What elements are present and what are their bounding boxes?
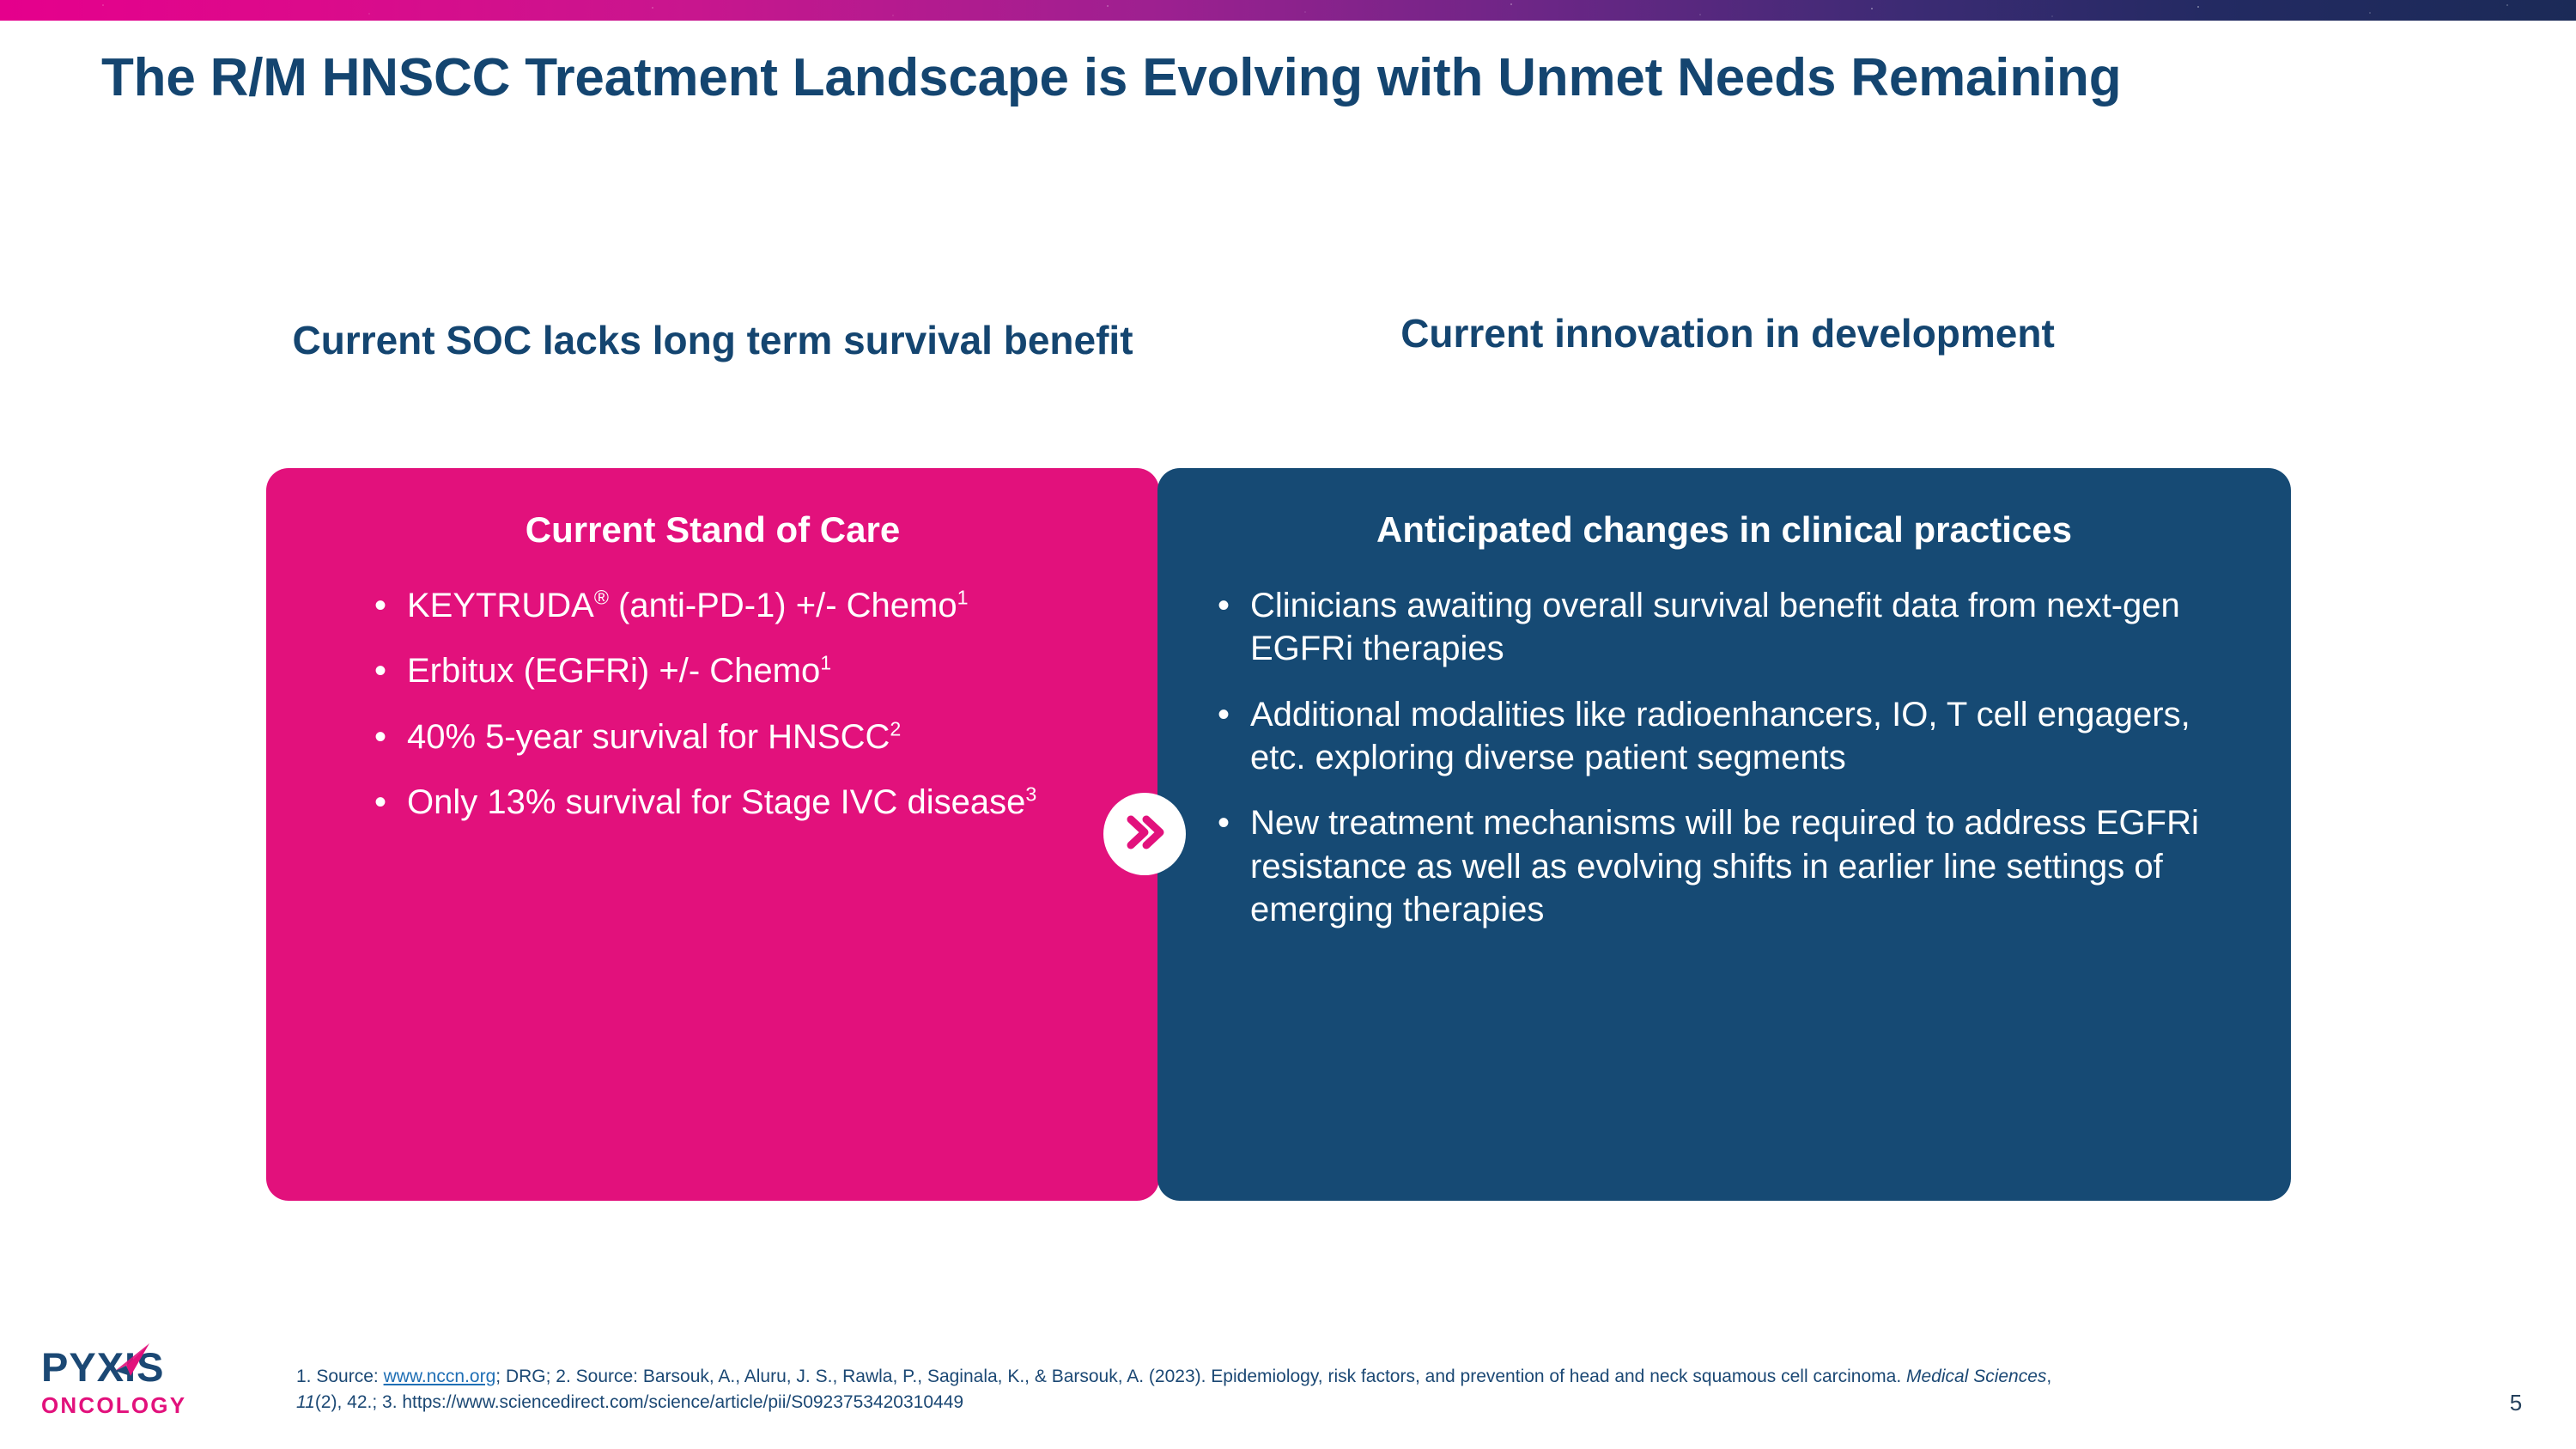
logo-primary-text: PYXIS <box>41 1347 239 1387</box>
top-gradient-band <box>0 0 2576 21</box>
card-anticipated-changes: Anticipated changes in clinical practice… <box>1157 468 2291 1201</box>
registered-mark: ® <box>594 587 609 609</box>
bullet-text: New treatment mechanisms will be require… <box>1250 804 2199 928</box>
footnote-part-3: , <box>2046 1367 2051 1386</box>
bullet-text: KEYTRUDA <box>407 587 594 624</box>
page-title: The R/M HNSCC Treatment Landscape is Evo… <box>101 47 2351 109</box>
footnote-reference: 2 <box>890 717 901 740</box>
logo-secondary-text: ONCOLOGY <box>41 1394 239 1416</box>
bullet-item: New treatment mechanisms will be require… <box>1250 801 2226 931</box>
bullet-item: Additional modalities like radioenhancer… <box>1250 693 2226 780</box>
footnote-reference: 1 <box>820 652 831 674</box>
footnote-reference: 3 <box>1025 783 1036 806</box>
bullet-item: KEYTRUDA® (anti-PD-1) +/- Chemo1 <box>407 584 1070 627</box>
column-caption-left: Current SOC lacks long term survival ben… <box>266 316 1159 364</box>
page-number: 5 <box>2490 1390 2542 1416</box>
footnote-part-2: ; DRG; 2. Source: Barsouk, A., Aluru, J.… <box>495 1367 1906 1386</box>
footnote-part-1: 1. Source: <box>296 1367 384 1386</box>
bullet-text-rest: (anti-PD-1) +/- Chemo <box>609 587 957 624</box>
connector-badge <box>1103 793 1186 875</box>
bullet-list-right: Clinicians awaiting overall survival ben… <box>1197 584 2251 932</box>
card-heading-left: Current Stand of Care <box>295 508 1130 553</box>
bullet-item: Clinicians awaiting overall survival ben… <box>1250 584 2226 671</box>
bullet-text: Clinicians awaiting overall survival ben… <box>1250 587 2180 667</box>
double-chevron-right-icon <box>1120 807 1170 861</box>
card-heading-right: Anticipated changes in clinical practice… <box>1197 508 2251 553</box>
footnote-sources: 1. Source: www.nccn.org; DRG; 2. Source:… <box>296 1364 2065 1416</box>
bullet-item: Only 13% survival for Stage IVC disease3 <box>407 781 1070 824</box>
bullet-item: 40% 5-year survival for HNSCC2 <box>407 715 1070 758</box>
footnote-reference: 1 <box>957 587 969 609</box>
footnote-journal-name: Medical Sciences <box>1906 1367 2046 1386</box>
footnote-part-4: (2), 42.; 3. https://www.sciencedirect.c… <box>315 1392 963 1412</box>
card-current-standard-of-care: Current Stand of Care KEYTRUDA® (anti-PD… <box>266 468 1159 1201</box>
footnote-volume: 11 <box>296 1392 315 1412</box>
nccn-link[interactable]: www.nccn.org <box>384 1367 496 1386</box>
bullet-text: Only 13% survival for Stage IVC disease <box>407 783 1025 821</box>
bullet-list-left: KEYTRUDA® (anti-PD-1) +/- Chemo1Erbitux … <box>295 584 1130 825</box>
pyxis-oncology-logo: PYXIS ONCOLOGY <box>41 1347 239 1426</box>
bullet-text: Erbitux (EGFRi) +/- Chemo <box>407 652 820 690</box>
bullet-text: 40% 5-year survival for HNSCC <box>407 718 890 756</box>
column-caption-right: Current innovation in development <box>1161 309 2294 357</box>
bullet-text: Additional modalities like radioenhancer… <box>1250 696 2190 776</box>
bullet-item: Erbitux (EGFRi) +/- Chemo1 <box>407 649 1070 692</box>
